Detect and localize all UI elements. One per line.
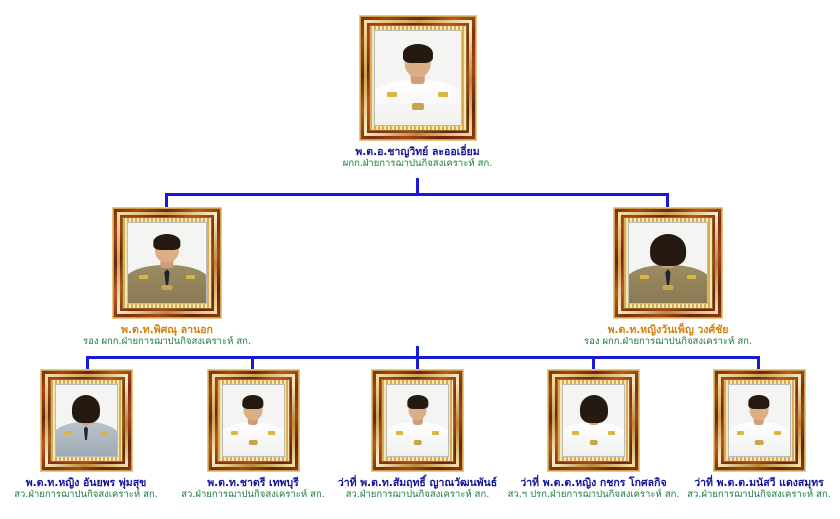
photo-frame: [359, 15, 477, 141]
node-name: พ.ต.ท.พิศณุ ลานอก: [54, 324, 280, 336]
portrait-photo: [374, 30, 462, 126]
photo-frame: [371, 369, 464, 472]
portrait-photo: [562, 384, 625, 457]
node-title: ผกก.ฝ่ายการฌาปนกิจสงเคราะห์ สก.: [305, 158, 530, 169]
photo-frame: [713, 369, 806, 472]
portrait-photo: [55, 384, 118, 457]
connector-level3-horizontal: [86, 356, 760, 359]
photo-frame: [40, 369, 133, 472]
connector-level3-stub-3: [416, 356, 419, 369]
node-name: พ.ต.อ.ชาญวิทย์ ละออเอี่ยม: [305, 146, 530, 158]
org-chart-canvas: พ.ต.อ.ชาญวิทย์ ละออเอี่ยม ผกก.ฝ่ายการฌาป…: [0, 0, 840, 519]
portrait-photo: [386, 384, 449, 457]
connector-level2-horizontal: [165, 193, 669, 196]
org-node-level2-1[interactable]: พ.ต.ท.พิศณุ ลานอก รอง ผกก.ฝ่ายการฌาปนกิจ…: [54, 207, 280, 348]
connector-level3-stub-2: [251, 356, 254, 369]
node-title: สว.ฝ่ายการฌาปนกิจสงเคราะห์ สก.: [656, 489, 840, 500]
portrait-photo: [728, 384, 791, 457]
connector-level3-stub-5: [757, 356, 760, 369]
photo-frame: [547, 369, 640, 472]
portrait-photo: [628, 222, 708, 304]
connector-level3-stub-4: [592, 356, 595, 369]
org-node-level1-1[interactable]: พ.ต.อ.ชาญวิทย์ ละออเอี่ยม ผกก.ฝ่ายการฌาป…: [305, 15, 530, 170]
connector-level2-left-stub: [165, 193, 168, 207]
org-node-level3-5[interactable]: ว่าที่ พ.ต.ต.มนัสวี แดงสมุทร สว.ฝ่ายการฌ…: [656, 369, 840, 501]
org-node-level2-2[interactable]: พ.ต.ท.หญิงวันเพ็ญ วงศ์ชัย รอง ผกก.ฝ่ายกา…: [555, 207, 781, 348]
node-name: พ.ต.ท.หญิงวันเพ็ญ วงศ์ชัย: [555, 324, 781, 336]
connector-level3-stub-1: [86, 356, 89, 369]
photo-frame: [112, 207, 222, 319]
node-name: ว่าที่ พ.ต.ต.มนัสวี แดงสมุทร: [656, 477, 840, 489]
photo-frame: [613, 207, 723, 319]
node-title: รอง ผกก.ฝ่ายการฌาปนกิจสงเคราะห์ สก.: [555, 336, 781, 347]
connector-level2-right-stub: [666, 193, 669, 207]
portrait-photo: [127, 222, 207, 304]
portrait-photo: [222, 384, 285, 457]
node-title: รอง ผกก.ฝ่ายการฌาปนกิจสงเคราะห์ สก.: [54, 336, 280, 347]
photo-frame: [207, 369, 300, 472]
